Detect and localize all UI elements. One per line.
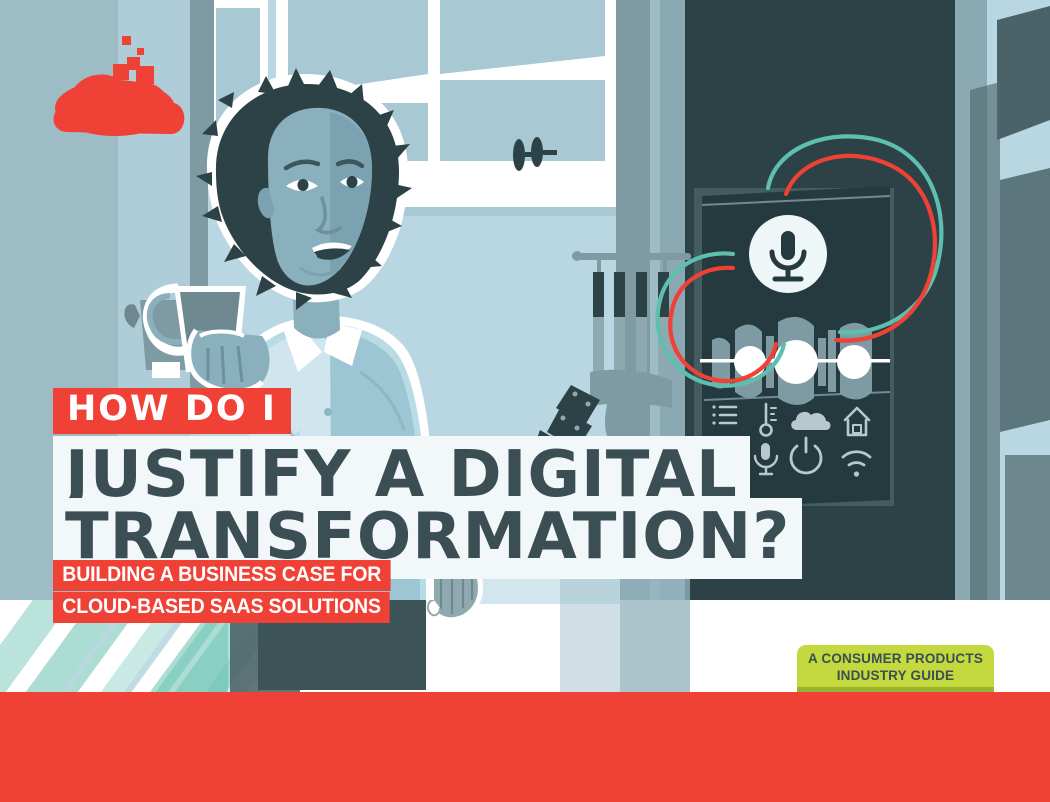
badge-line-2: INDUSTRY GUIDE (797, 668, 994, 685)
cabinet-knob (513, 139, 525, 171)
smart-panel (694, 186, 894, 508)
industry-guide-badge: A CONSUMER PRODUCTS INDUSTRY GUIDE (797, 645, 994, 692)
diagonal-stripes (0, 590, 300, 692)
footer-bar: LIFECYCLE INSIGHTS Accelerating Engineer… (0, 692, 1050, 802)
badge-line-1: A CONSUMER PRODUCTS (797, 651, 994, 668)
leaf (427, 551, 481, 619)
cover-illustration (0, 0, 1050, 692)
ebook-cover: HOW DO I JUSTIFY A DIGITAL TRANSFORMATIO… (0, 0, 1050, 802)
